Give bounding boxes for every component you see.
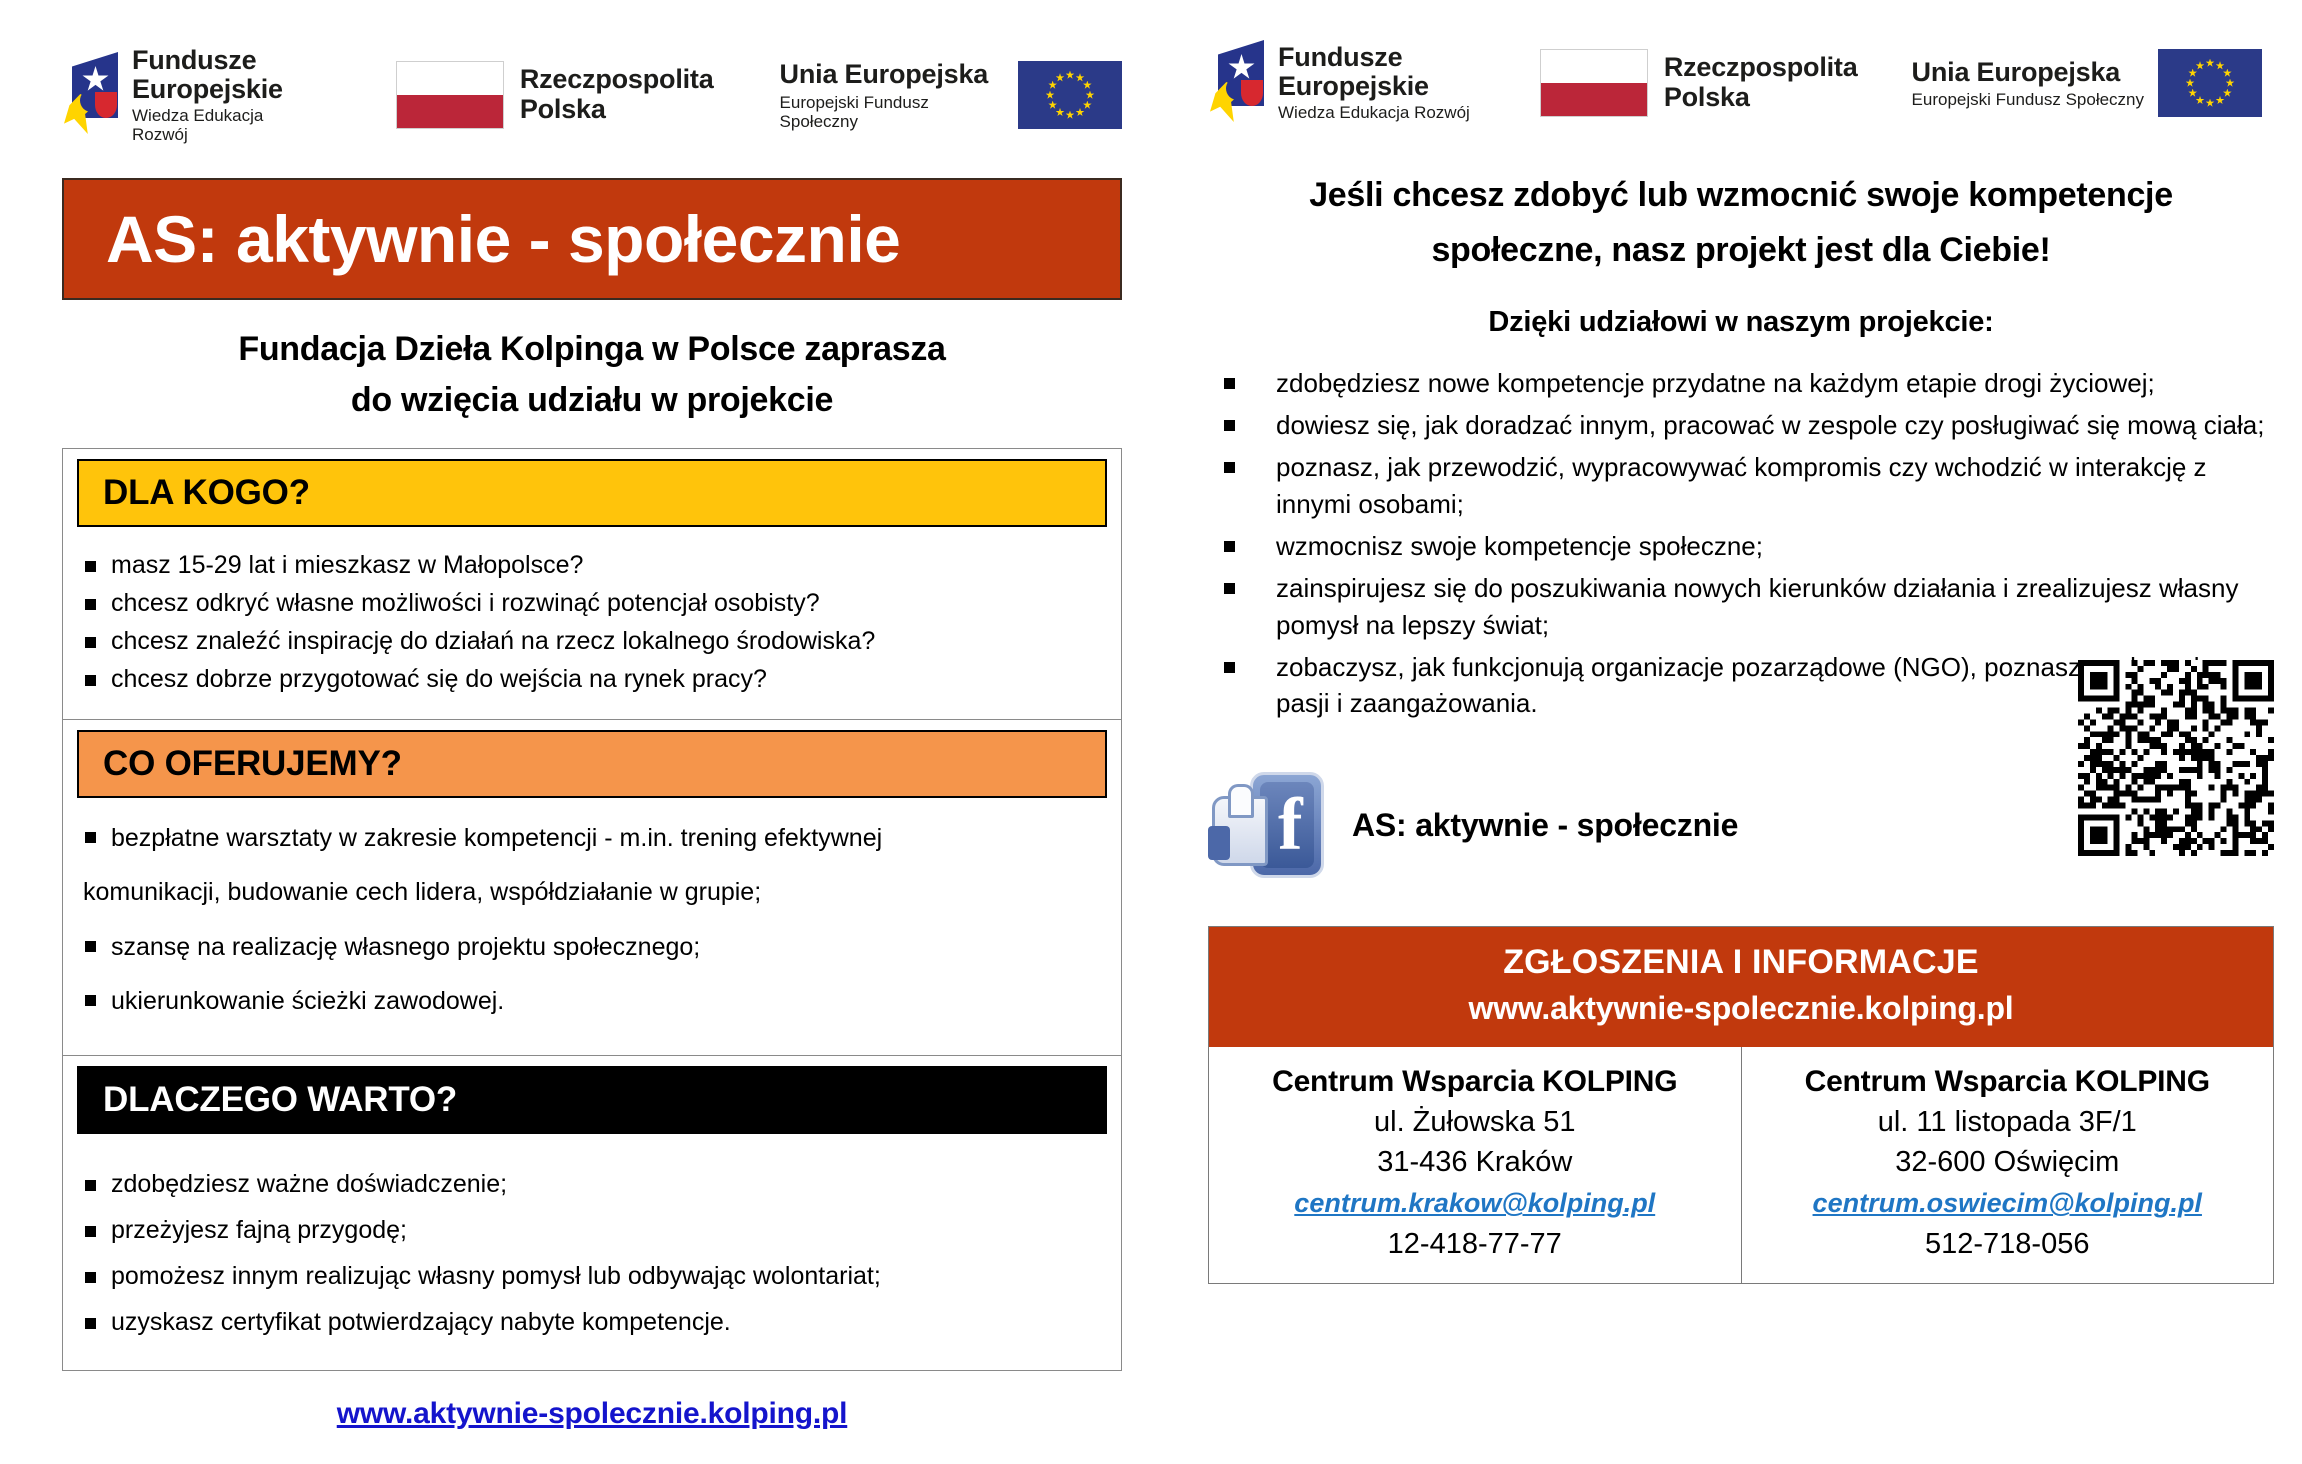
list-item: masz 15-29 lat i mieszkasz w Małopolsce?: [83, 549, 1105, 581]
pl-line2: Polska: [520, 95, 714, 125]
section-heading: DLACZEGO WARTO?: [103, 1080, 457, 1120]
poland-flag-icon: [396, 61, 504, 129]
info-sections: DLA KOGO? masz 15-29 lat i mieszkasz w M…: [62, 448, 1122, 1371]
list-item: chcesz znaleźć inspirację do działań na …: [83, 625, 1105, 657]
office-email-link[interactable]: centrum.krakow@kolping.pl: [1219, 1188, 1731, 1219]
left-column: AS: aktywnie - społecznie Fundacja Dzieł…: [62, 178, 1122, 1431]
office-city: 32-600 Oświęcim: [1752, 1146, 2264, 1179]
bottom-url-container: www.aktywnie-spolecznie.kolping.pl: [62, 1397, 1122, 1431]
list-item: uzyskasz certyfikat potwierdzający nabyt…: [83, 1306, 1105, 1338]
office-name: Centrum Wsparcia KOLPING: [1752, 1065, 2264, 1099]
section-body-dlaczego-warto: zdobędziesz ważne doświadczenie; przeżyj…: [63, 1134, 1121, 1370]
list-item: przeżyjesz fajną przygodę;: [83, 1214, 1105, 1246]
fundusze-europejskie-logo: Fundusze Europejskie Wiedza Edukacja Roz…: [1208, 40, 1470, 126]
list-item: zdobędziesz ważne doświadczenie;: [83, 1168, 1105, 1200]
eu-flag-icon: [2158, 49, 2262, 117]
flyer-page: Fundusze Europejskie Wiedza Edukacja Roz…: [0, 0, 2302, 1464]
section-header-co-oferujemy: CO OFERUJEMY?: [77, 730, 1107, 798]
project-website-link[interactable]: www.aktywnie-spolecznie.kolping.pl: [337, 1397, 848, 1430]
section-body-dla-kogo: masz 15-29 lat i mieszkasz w Małopolsce?…: [63, 527, 1121, 719]
fe-line2: Europejskie: [132, 75, 318, 104]
list-item-continuation: komunikacji, budowanie cech lidera, wspó…: [83, 874, 1105, 910]
office-street: ul. Żułowska 51: [1219, 1106, 1731, 1139]
logo-bar-left: Fundusze Europejskie Wiedza Edukacja Roz…: [62, 46, 1122, 144]
invitation-line1: Fundacja Dzieła Kolpinga w Polsce zapras…: [62, 324, 1122, 375]
office-phone: 512-718-056: [1752, 1228, 2264, 1261]
right-headline: Jeśli chcesz zdobyć lub wzmocnić swoje k…: [1208, 168, 2274, 278]
list-item: chcesz odkryć własne możliwości i rozwin…: [83, 587, 1105, 619]
eu-line1: Unia Europejska: [780, 59, 1004, 89]
list-item: bezpłatne warsztaty w zakresie kompetenc…: [83, 820, 1105, 856]
logo-bar-right: Fundusze Europejskie Wiedza Edukacja Roz…: [1208, 40, 2268, 126]
eu-flag-icon: [1018, 61, 1122, 129]
eu-line1: Unia Europejska: [1912, 57, 2144, 87]
headline-line1: Jeśli chcesz zdobyć lub wzmocnić swoje k…: [1208, 168, 2274, 223]
section-header-dlaczego-warto: DLACZEGO WARTO?: [77, 1066, 1107, 1134]
unia-europejska-logo: Unia Europejska Europejski Fundusz Społe…: [1912, 49, 2262, 117]
project-title-banner: AS: aktywnie - społecznie: [62, 178, 1122, 300]
contact-office-krakow: Centrum Wsparcia KOLPING ul. Żułowska 51…: [1209, 1047, 1741, 1283]
eu-line2: Europejski Fundusz Społeczny: [780, 93, 1004, 131]
fe-line3: Wiedza Edukacja Rozwój: [1278, 104, 1470, 122]
fe-line1: Fundusze: [1278, 43, 1470, 72]
fe-line3: Wiedza Edukacja Rozwój: [132, 107, 318, 144]
fundusze-europejskie-logo: Fundusze Europejskie Wiedza Edukacja Roz…: [62, 46, 318, 144]
section-header-dla-kogo: DLA KOGO?: [77, 459, 1107, 527]
invitation-text: Fundacja Dzieła Kolpinga w Polsce zapras…: [62, 324, 1122, 426]
list-item: zdobędziesz nowe kompetencje przydatne n…: [1218, 365, 2274, 402]
fundusze-europejskie-icon: [62, 52, 118, 138]
qr-code: [2078, 660, 2274, 856]
section-heading: DLA KOGO?: [103, 473, 310, 513]
office-street: ul. 11 listopada 3F/1: [1752, 1106, 2264, 1139]
project-title: AS: aktywnie - społecznie: [106, 201, 900, 277]
list-item: ukierunkowanie ścieżki zawodowej.: [83, 983, 1105, 1019]
section-body-co-oferujemy: bezpłatne warsztaty w zakresie kompetenc…: [63, 798, 1121, 1055]
facebook-row: f AS: aktywnie - społecznie: [1208, 770, 2274, 880]
contact-header-title: ZGŁOSZENIA I INFORMACJE: [1219, 943, 2263, 982]
contact-header: ZGŁOSZENIA I INFORMACJE www.aktywnie-spo…: [1209, 927, 2273, 1047]
unia-europejska-logo: Unia Europejska Europejski Fundusz Społe…: [780, 59, 1122, 130]
section-dla-kogo: DLA KOGO? masz 15-29 lat i mieszkasz w M…: [63, 459, 1121, 720]
contact-office-oswiecim: Centrum Wsparcia KOLPING ul. 11 listopad…: [1741, 1047, 2274, 1283]
list-item: wzmocnisz swoje kompetencje społeczne;: [1218, 528, 2274, 565]
list-item: chcesz dobrze przygotować się do wejścia…: [83, 663, 1105, 695]
list-item: szansę na realizację własnego projektu s…: [83, 929, 1105, 965]
contact-box: ZGŁOSZENIA I INFORMACJE www.aktywnie-spo…: [1208, 926, 2274, 1284]
office-phone: 12-418-77-77: [1219, 1228, 1731, 1261]
fe-line2: Europejskie: [1278, 72, 1470, 101]
list-item: poznasz, jak przewodzić, wypracowywać ko…: [1218, 449, 2274, 523]
fe-line1: Fundusze: [132, 46, 318, 75]
rzeczpospolita-polska-logo: Rzeczpospolita Polska: [1540, 49, 1858, 117]
section-heading: CO OFERUJEMY?: [103, 744, 402, 784]
pl-line1: Rzeczpospolita: [520, 65, 714, 95]
facebook-page-label: AS: aktywnie - społecznie: [1352, 807, 1738, 844]
invitation-line2: do wzięcia udziału w projekcie: [62, 375, 1122, 426]
list-item: dowiesz się, jak doradzać innym, pracowa…: [1218, 407, 2274, 444]
right-column: Jeśli chcesz zdobyć lub wzmocnić swoje k…: [1208, 168, 2274, 1284]
office-name: Centrum Wsparcia KOLPING: [1219, 1065, 1731, 1099]
office-city: 31-436 Kraków: [1219, 1146, 1731, 1179]
headline-line2: społeczne, nasz projekt jest dla Ciebie!: [1208, 223, 2274, 278]
fundusze-europejskie-icon: [1208, 40, 1264, 126]
pl-line1: Rzeczpospolita: [1664, 53, 1858, 83]
contact-columns: Centrum Wsparcia KOLPING ul. Żułowska 51…: [1209, 1047, 2273, 1283]
section-co-oferujemy: CO OFERUJEMY? bezpłatne warsztaty w zakr…: [63, 730, 1121, 1056]
eu-line2: Europejski Fundusz Społeczny: [1912, 90, 2144, 109]
office-email-link[interactable]: centrum.oswiecim@kolping.pl: [1752, 1188, 2264, 1219]
facebook-thumbs-up-icon[interactable]: f: [1208, 770, 1326, 880]
benefits-subheading: Dzięki udziałowi w naszym projekcie:: [1208, 306, 2274, 339]
list-item: pomożesz innym realizując własny pomysł …: [83, 1260, 1105, 1292]
list-item: zainspirujesz się do poszukiwania nowych…: [1218, 570, 2274, 644]
section-dlaczego-warto: DLACZEGO WARTO? zdobędziesz ważne doświa…: [63, 1066, 1121, 1370]
poland-flag-icon: [1540, 49, 1648, 117]
rzeczpospolita-polska-logo: Rzeczpospolita Polska: [396, 61, 714, 129]
contact-header-url[interactable]: www.aktywnie-spolecznie.kolping.pl: [1219, 990, 2263, 1027]
pl-line2: Polska: [1664, 83, 1858, 113]
